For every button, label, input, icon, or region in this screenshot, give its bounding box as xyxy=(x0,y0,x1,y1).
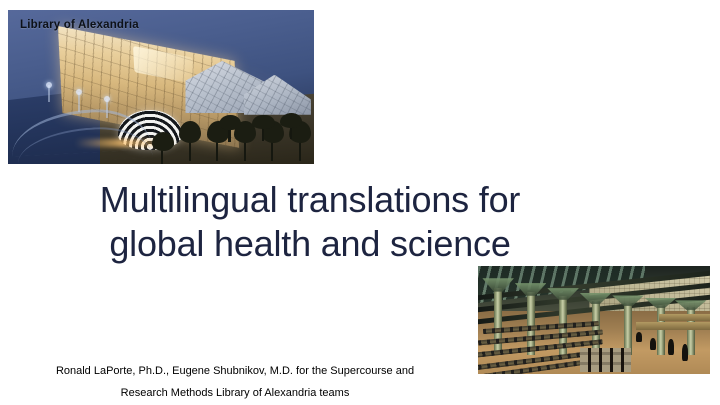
mushroom-column xyxy=(494,288,502,355)
slide-subtitle: Ronald LaPorte, Ph.D., Eugene Shubnikov,… xyxy=(0,360,470,404)
mezzanine-balcony xyxy=(636,322,710,330)
palm-tree xyxy=(216,115,244,143)
visitor-figure xyxy=(636,332,642,342)
title-line-1: Multilingual translations for xyxy=(0,178,620,222)
walkway-lamp xyxy=(78,92,80,112)
visitor-figure xyxy=(650,338,656,350)
photo-caption-library-of-alexandria: Library of Alexandria xyxy=(20,19,139,31)
visitor-figure xyxy=(668,339,674,354)
mushroom-column xyxy=(527,292,535,355)
library-reading-room-photo xyxy=(478,266,710,374)
mushroom-column xyxy=(624,303,632,355)
palm-tree xyxy=(149,132,177,164)
display-panel xyxy=(580,348,631,372)
subtitle-line-2: Research Methods Library of Alexandria t… xyxy=(0,382,470,404)
library-exterior-photo: Library of Alexandria xyxy=(8,10,314,164)
mushroom-column xyxy=(592,301,600,355)
subtitle-line-1: Ronald LaPorte, Ph.D., Eugene Shubnikov,… xyxy=(0,360,470,382)
presentation-slide: Library of Alexandria Multilingual trans xyxy=(0,0,720,405)
palm-tree xyxy=(277,113,305,139)
slide-title: Multilingual translations for global hea… xyxy=(0,178,620,266)
mushroom-column xyxy=(657,305,665,355)
palm-tree xyxy=(250,115,278,141)
mezzanine-balcony xyxy=(659,314,710,322)
walkway-lamp xyxy=(48,85,50,102)
palm-tree xyxy=(176,121,204,161)
visitor-figure xyxy=(682,344,688,361)
walkway-lamp xyxy=(106,99,108,117)
title-line-2: global health and science xyxy=(0,222,620,266)
